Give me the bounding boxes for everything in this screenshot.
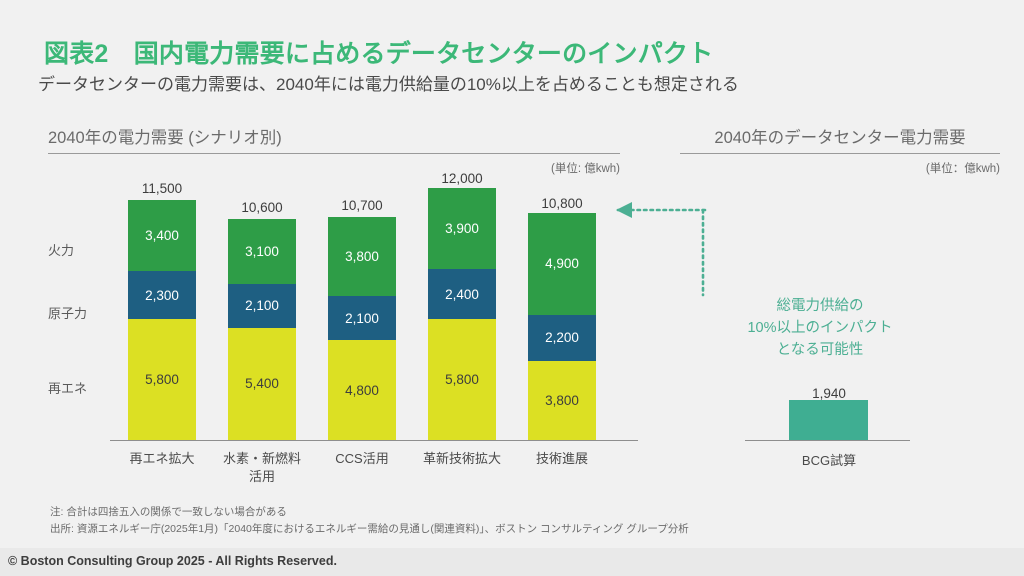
- callout-line-1: 総電力供給の: [700, 296, 940, 318]
- bar-segment-原子力: 2,100: [228, 284, 296, 328]
- callout-line-2: 10%以上のインパクト: [700, 318, 940, 340]
- bar-segment-火力: 3,800: [328, 217, 396, 296]
- segment-value: 5,800: [145, 372, 179, 387]
- bar-total-label: 11,500: [128, 181, 196, 196]
- segment-value: 4,800: [345, 383, 379, 398]
- footnotes: 注: 合計は四捨五入の関係で一致しない場合がある 出所: 資源エネルギー庁(20…: [50, 504, 689, 539]
- right-panel-unit: (単位：億kwh): [680, 160, 1000, 176]
- row-label-0: 火力: [48, 240, 74, 259]
- callout-text: 総電力供給の 10%以上のインパクト となる可能性: [700, 296, 940, 361]
- segment-value: 2,300: [145, 288, 179, 303]
- left-chart-baseline: [110, 440, 638, 441]
- bar-group-0: 3,4002,3005,80011,500: [128, 200, 196, 440]
- bar-segment-火力: 4,900: [528, 213, 596, 315]
- segment-value: 2,100: [245, 298, 279, 313]
- right-panel-rule: [680, 153, 1000, 154]
- slide-canvas: 図表2 国内電力需要に占めるデータセンターのインパクト データセンターの電力需要…: [0, 0, 1024, 576]
- segment-value: 2,100: [345, 311, 379, 326]
- segment-value: 4,900: [545, 256, 579, 271]
- left-panel-header: 2040年の電力需要 (シナリオ別) (単位: 億kwh): [48, 124, 620, 176]
- bar-segment-再エネ: 5,800: [428, 319, 496, 440]
- segment-value: 2,400: [445, 287, 479, 302]
- right-panel-header: 2040年のデータセンター電力需要 (単位：億kwh): [680, 124, 1000, 176]
- callout-line-3: となる可能性: [700, 340, 940, 362]
- bar-segment-再エネ: 3,800: [528, 361, 596, 440]
- row-label-2: 再エネ: [48, 378, 87, 397]
- segment-value: 3,900: [445, 221, 479, 236]
- category-label-0: 再エネ拡大: [107, 450, 217, 468]
- bar-group-1: 3,1002,1005,40010,600: [228, 219, 296, 440]
- bar-group-2: 3,8002,1004,80010,700: [328, 217, 396, 440]
- segment-value: 3,800: [345, 249, 379, 264]
- bar-segment-原子力: 2,300: [128, 271, 196, 319]
- segment-value: 2,200: [545, 330, 579, 345]
- bar-segment-再エネ: 5,800: [128, 319, 196, 440]
- bar-total-label: 10,700: [328, 198, 396, 213]
- callout-connector-arrow: [590, 195, 850, 395]
- category-label-2: CCS活用: [307, 450, 417, 468]
- category-label-1: 水素・新燃料活用: [207, 450, 317, 485]
- category-label-4: 技術進展: [507, 450, 617, 468]
- page-subtitle: データセンターの電力需要は、2040年には電力供給量の10%以上を占めることも想…: [38, 70, 739, 95]
- category-label-3: 革新技術拡大: [407, 450, 517, 468]
- segment-value: 3,800: [545, 393, 579, 408]
- segment-value: 3,400: [145, 228, 179, 243]
- bar-segment-原子力: 2,100: [328, 296, 396, 340]
- bar-segment-火力: 3,900: [428, 188, 496, 269]
- segment-value: 5,400: [245, 376, 279, 391]
- left-panel-title: 2040年の電力需要 (シナリオ別): [48, 124, 620, 148]
- page-title: 図表2 国内電力需要に占めるデータセンターのインパクト: [44, 34, 713, 70]
- bar-segment-再エネ: 5,400: [228, 328, 296, 441]
- segment-value: 5,800: [445, 372, 479, 387]
- bar-total-label: 10,600: [228, 200, 296, 215]
- bar-segment-原子力: 2,400: [428, 269, 496, 319]
- bar-segment-再エネ: 4,800: [328, 340, 396, 440]
- footnote-source: 出所: 資源エネルギー庁(2025年1月)「2040年度におけるエネルギー需給の…: [50, 521, 689, 538]
- footnote-note: 注: 合計は四捨五入の関係で一致しない場合がある: [50, 504, 689, 521]
- bar-total-label: 10,800: [528, 196, 596, 211]
- stacked-bar-chart: 3,4002,3005,80011,5003,1002,1005,40010,6…: [128, 190, 628, 440]
- segment-value: 3,100: [245, 244, 279, 259]
- bar-segment-火力: 3,100: [228, 219, 296, 284]
- bcg-estimate-bar: [789, 400, 868, 440]
- left-panel-unit: (単位: 億kwh): [48, 160, 620, 176]
- bar-total-label: 12,000: [428, 171, 496, 186]
- bar-group-4: 4,9002,2003,80010,800: [528, 213, 596, 440]
- bar-group-3: 3,9002,4005,80012,000: [428, 188, 496, 440]
- bcg-estimate-label: BCG試算: [769, 450, 889, 469]
- row-label-1: 原子力: [48, 303, 87, 322]
- bar-segment-原子力: 2,200: [528, 315, 596, 361]
- copyright-text: © Boston Consulting Group 2025 - All Rig…: [8, 554, 337, 568]
- left-panel-rule: [48, 153, 620, 154]
- right-panel-title: 2040年のデータセンター電力需要: [680, 124, 1000, 148]
- bar-segment-火力: 3,400: [128, 200, 196, 271]
- right-chart-baseline: [745, 440, 910, 441]
